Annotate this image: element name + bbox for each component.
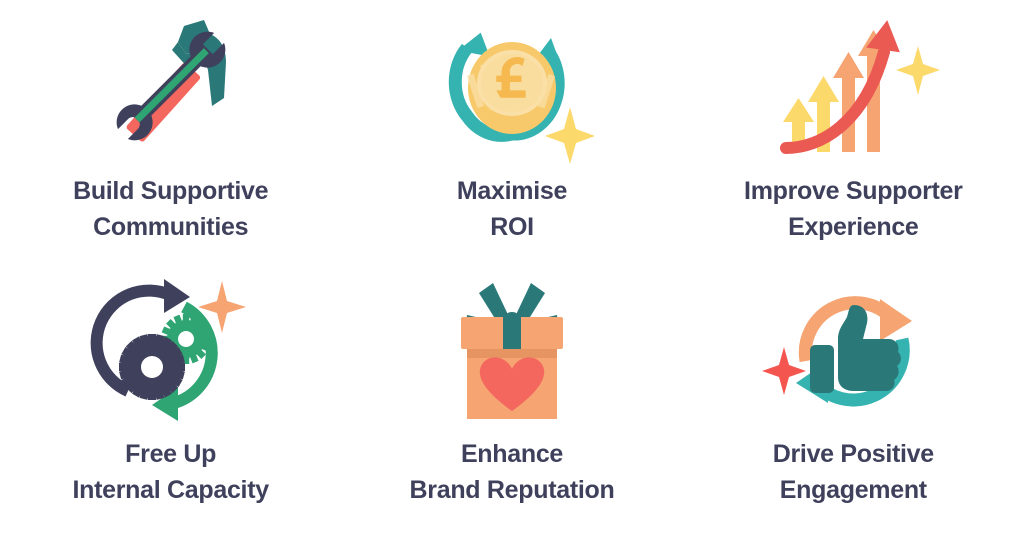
benefit-card-maximise-roi: Maximise ROI (341, 6, 682, 267)
gear-large-navy (119, 334, 185, 400)
sparkle-star-yellow (896, 46, 940, 95)
thumbs-up-cycle-icon (768, 277, 938, 425)
gift-box-heart-icon (427, 277, 597, 425)
benefits-grid: Build Supportive Communities (0, 0, 1024, 536)
benefit-card-enhance-brand-reputation: Enhance Brand Reputation (341, 267, 682, 528)
benefit-card-free-up-internal-capacity: Free Up Internal Capacity (0, 267, 341, 528)
hammer-wrench-icon (86, 12, 256, 160)
growth-arrows-icon (768, 12, 938, 160)
coin-refresh-icon (427, 12, 597, 160)
gears-cycle-icon (86, 277, 256, 425)
benefit-label: Build Supportive Communities (73, 174, 268, 245)
benefit-label: Free Up Internal Capacity (72, 437, 268, 508)
benefit-card-build-supportive-communities: Build Supportive Communities (0, 6, 341, 267)
benefit-card-improve-supporter-experience: Improve Supporter Experience (683, 6, 1024, 267)
benefit-label: Drive Positive Engagement (773, 437, 934, 508)
benefit-label: Improve Supporter Experience (744, 174, 963, 245)
benefit-label: Maximise ROI (457, 174, 567, 245)
benefit-label: Enhance Brand Reputation (410, 437, 615, 508)
benefit-card-drive-positive-engagement: Drive Positive Engagement (683, 267, 1024, 528)
